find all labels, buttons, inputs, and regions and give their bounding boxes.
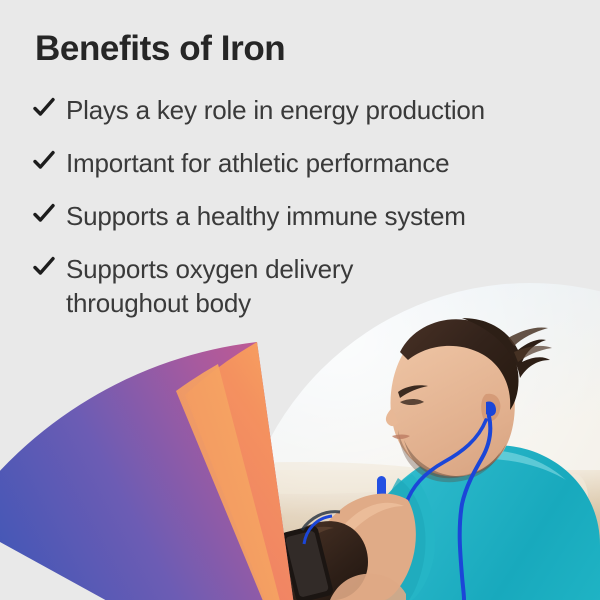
list-item: Supports a healthy immune system — [33, 199, 553, 237]
text-layer: Benefits of Iron Plays a key role in ene… — [0, 0, 600, 600]
page-title: Benefits of Iron — [35, 28, 285, 70]
list-item: Important for athletic performance — [33, 146, 553, 184]
list-item-label: Plays a key role in energy production — [66, 93, 553, 127]
list-item: Supports oxygen delivery throughout body — [33, 252, 553, 320]
check-icon — [33, 149, 55, 171]
benefits-list: Plays a key role in energy production Im… — [33, 93, 553, 335]
check-icon — [33, 96, 55, 118]
check-icon — [33, 255, 55, 277]
list-item-label: Supports oxygen delivery throughout body — [66, 252, 553, 320]
check-icon — [33, 202, 55, 224]
list-item-label: Important for athletic performance — [66, 146, 553, 180]
iron-benefits-infographic: Benefits of Iron Plays a key role in ene… — [0, 0, 600, 600]
list-item: Plays a key role in energy production — [33, 93, 553, 131]
list-item-label: Supports a healthy immune system — [66, 199, 553, 233]
